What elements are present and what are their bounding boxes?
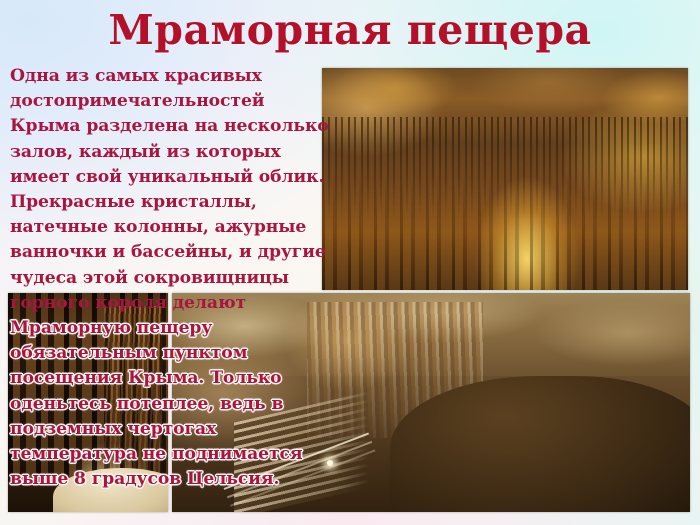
- body-line: ванночки и бассейны, и другие: [10, 240, 322, 265]
- body-line: чудеса этой сокровищницы: [10, 266, 322, 291]
- body-line: залов, каждый из которых: [10, 140, 322, 165]
- body-line: оденьтесь потеплее, ведь в: [10, 392, 322, 417]
- body-line: температура не поднимается: [10, 442, 322, 467]
- slide-title: Мраморная пещера: [0, 4, 700, 56]
- photo-cave-stalactite-chamber: [322, 68, 688, 290]
- cave-boulder: [390, 376, 690, 512]
- body-line: выше 8 градусов Цельсия.: [10, 467, 322, 492]
- body-line: Прекрасные кристаллы,: [10, 190, 322, 215]
- presentation-slide: Мраморная пещера Одна из самых красивых …: [0, 0, 700, 525]
- body-line: Мраморную пещеру: [10, 316, 322, 341]
- body-line: горного короля делают: [10, 291, 322, 316]
- body-line: подземных чертогах: [10, 417, 322, 442]
- body-line: Одна из самых красивых: [10, 64, 322, 89]
- body-line: Крыма разделена на несколько: [10, 114, 322, 139]
- slide-body-text: Одна из самых красивых достопримечательн…: [10, 64, 322, 492]
- body-line: имеет свой уникальный облик.: [10, 165, 322, 190]
- body-line: обязательным пунктом: [10, 341, 322, 366]
- body-line: достопримечательностей: [10, 89, 322, 114]
- body-line: натечные колонны, ажурные: [10, 215, 322, 240]
- body-line: посещения Крыма. Только: [10, 366, 322, 391]
- cave-column-texture: [322, 175, 688, 290]
